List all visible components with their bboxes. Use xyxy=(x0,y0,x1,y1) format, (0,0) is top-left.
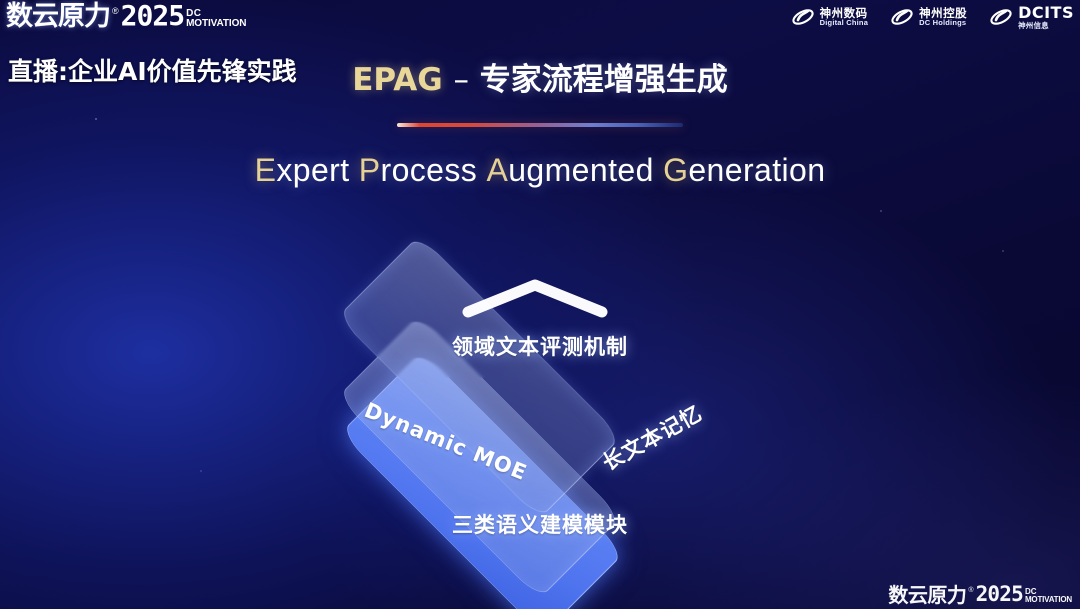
footer-watermark-logo: 数云原力 ® 2025 DC MOTIVATION xyxy=(888,584,1072,605)
watermark-cn: 数云原力 xyxy=(888,585,966,605)
layered-architecture-diagram: 领域文本评测机制 Dynamic MOE 长文本记忆 三类语义建模模块 xyxy=(0,0,1080,609)
diagram-layer-bottom-label: 三类语义建模模块 xyxy=(0,509,1080,539)
watermark-dc-motivation: DC MOTIVATION xyxy=(1025,588,1072,605)
slide-canvas: 数云原力 ® 2025 DC MOTIVATION 直播:企业AI价值先锋实践 … xyxy=(0,0,1080,609)
watermark-year: 2025 xyxy=(976,584,1023,605)
diagram-layer-top-label: 领域文本评测机制 xyxy=(0,331,1080,361)
watermark-motivation-label: MOTIVATION xyxy=(1025,596,1072,604)
watermark-registered-mark: ® xyxy=(968,587,973,605)
chevron-up-icon xyxy=(460,278,610,318)
